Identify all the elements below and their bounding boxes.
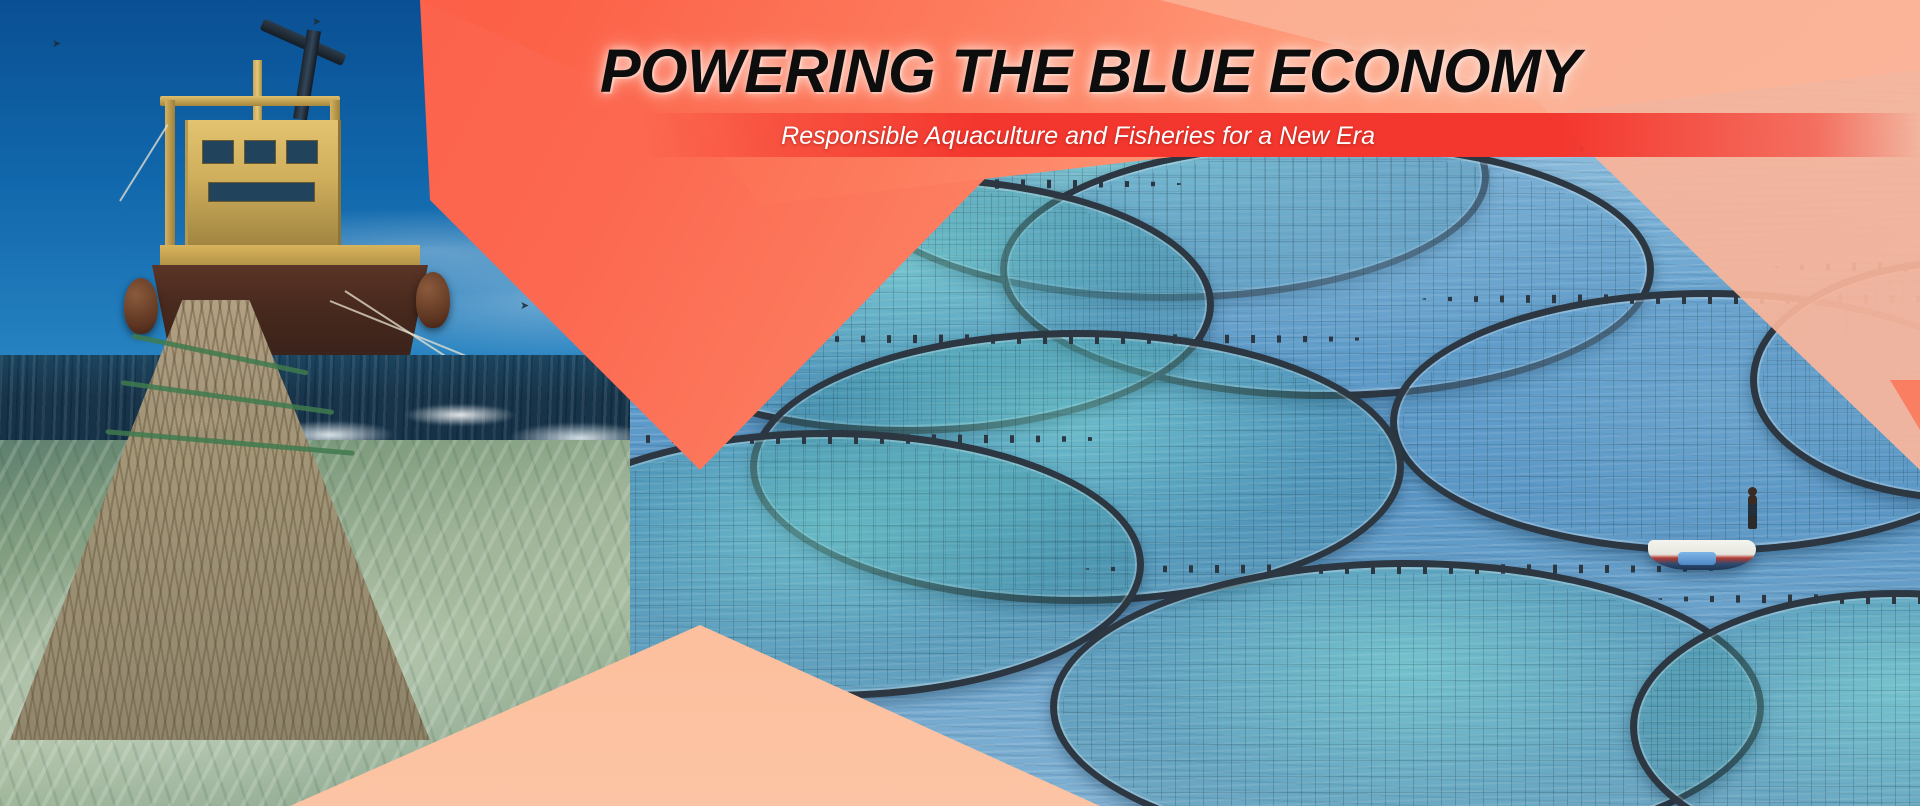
seagull-icon: ➤: [605, 200, 614, 211]
page-subtitle: Responsible Aquaculture and Fisheries fo…: [640, 114, 1920, 158]
seagull-icon: ➤: [600, 330, 609, 341]
cabin-window: [244, 140, 276, 164]
ship-cabin: [185, 120, 341, 250]
boat-cargo: [1678, 552, 1716, 565]
seagull-icon: ➤: [312, 16, 321, 27]
cabin-window: [202, 140, 234, 164]
seagull-icon: ➤: [52, 38, 61, 49]
seagull-icon: ➤: [560, 240, 569, 251]
seagull-icon: ➤: [500, 210, 509, 221]
seagull-icon: ➤: [455, 180, 464, 191]
cabin-window: [208, 182, 315, 202]
ship-gantry: [160, 96, 340, 106]
ship-fender: [124, 278, 158, 334]
seagull-icon: ➤: [520, 300, 529, 311]
hero-banner: ➤ ➤ ➤ ➤ ➤ ➤ ➤ ➤ ➤ ➤ ➤ ➤: [0, 0, 1920, 806]
gantry-leg: [165, 100, 175, 250]
farm-worker: [1748, 495, 1757, 529]
page-title: POWERING THE BLUE ECONOMY: [600, 36, 1910, 106]
cabin-window: [286, 140, 318, 164]
ship-fender: [416, 272, 450, 328]
seagull-icon: ➤: [540, 150, 549, 161]
